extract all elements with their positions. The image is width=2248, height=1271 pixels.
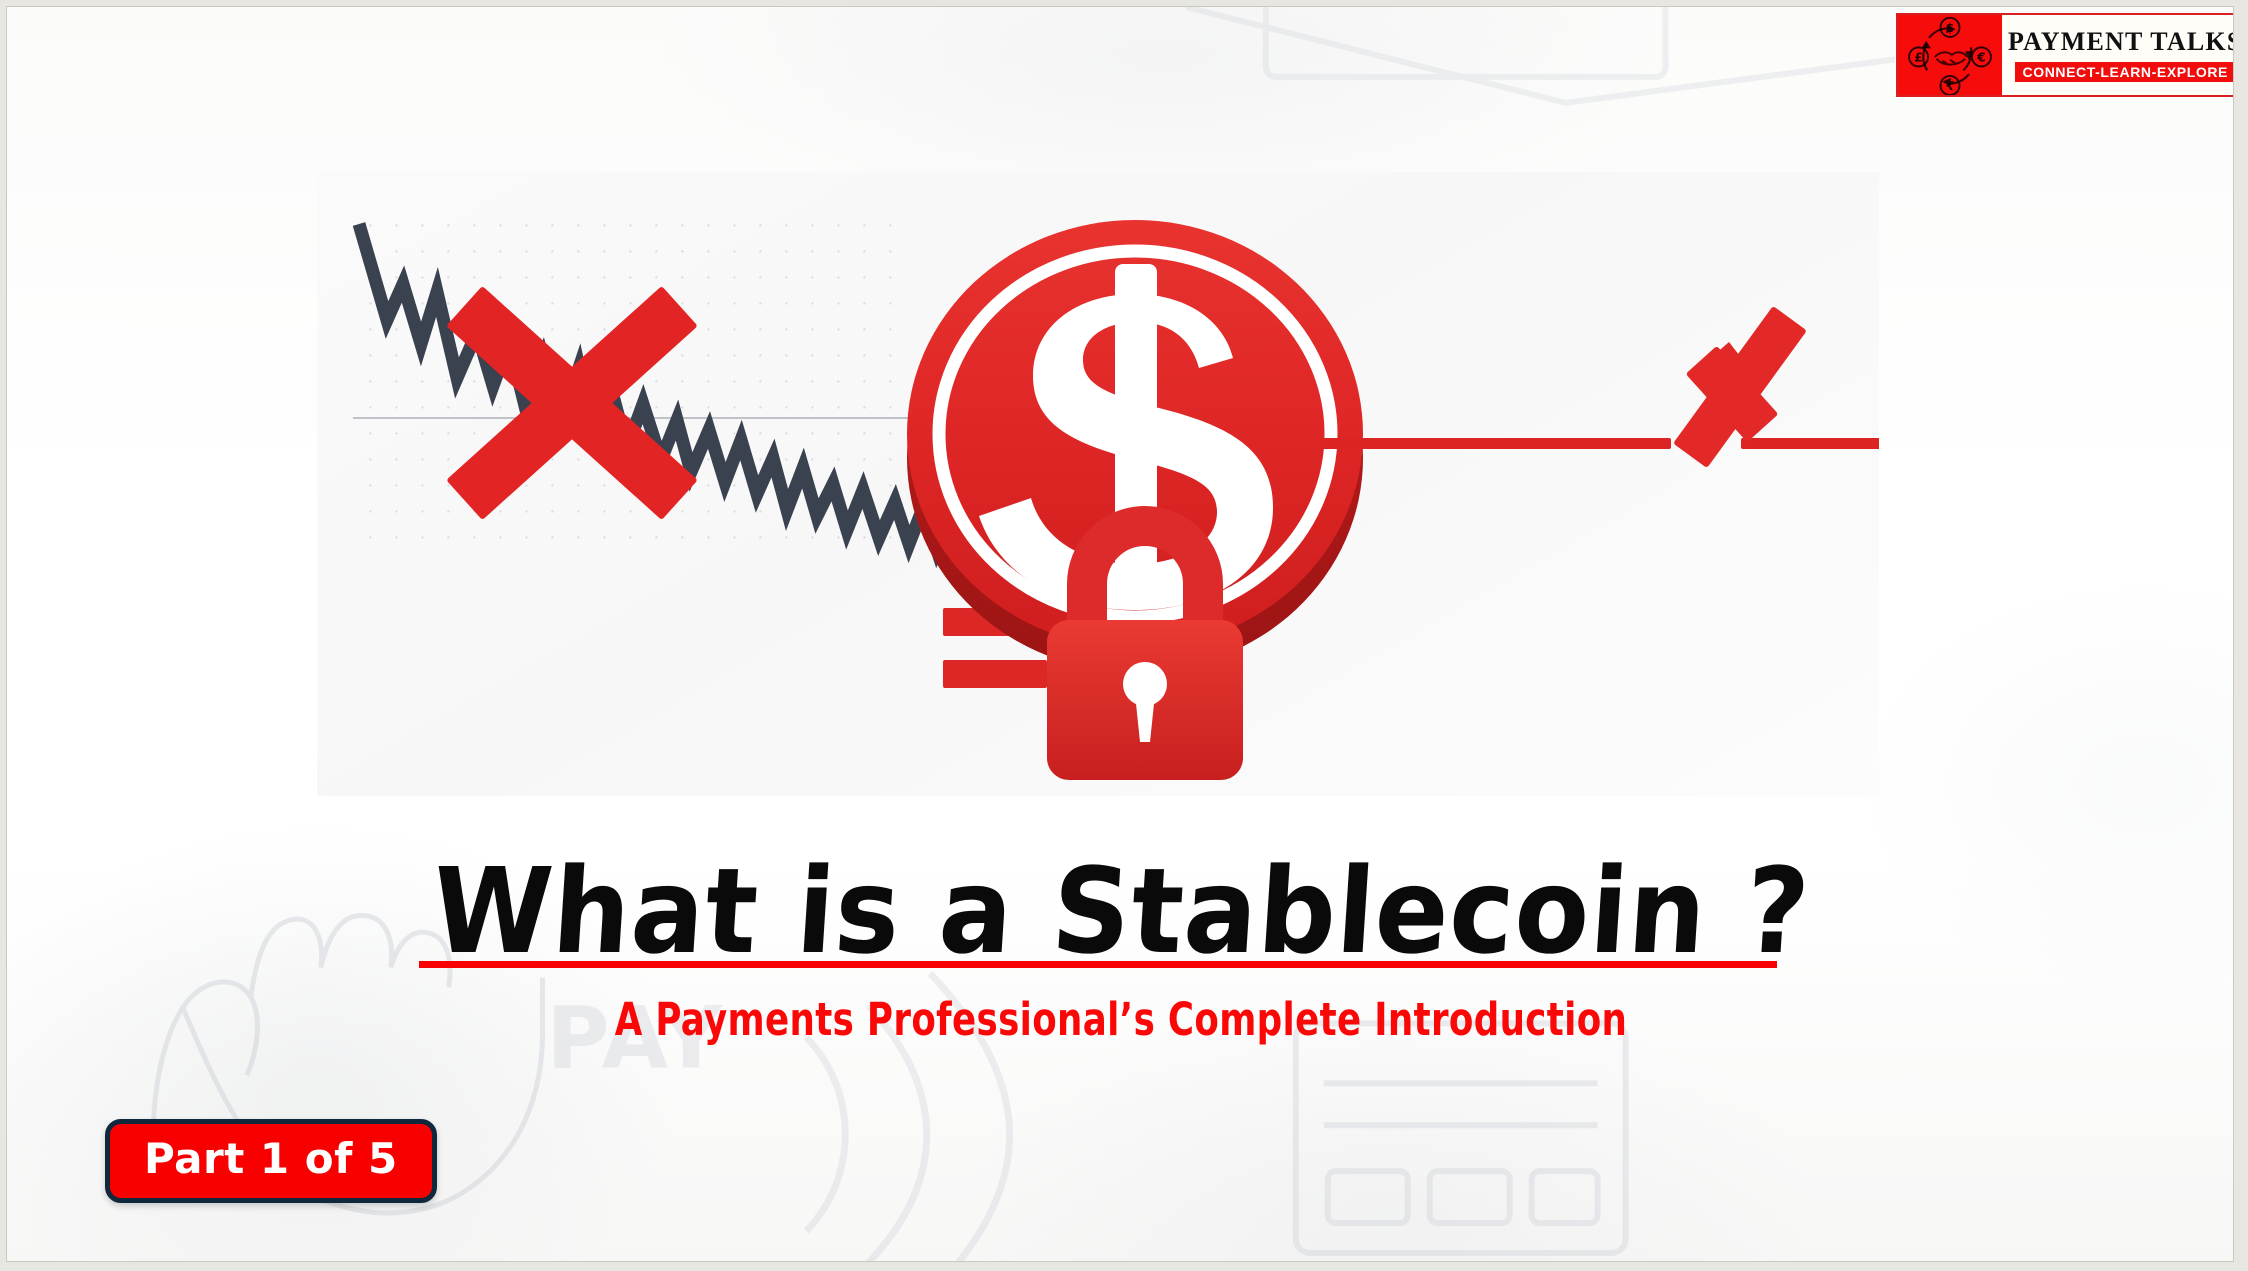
hero-illustration-panel [317,172,1879,796]
logo-title: PAYMENT TALKS [2008,29,2234,55]
slide-canvas: PAY [6,6,2234,1262]
logo-tagline: CONNECT-LEARN-EXPLORE [2015,62,2235,82]
status-badge: Part 1 of 5 [105,1119,437,1203]
svg-text:€: € [1976,51,1986,65]
svg-text:$: $ [1946,21,1955,35]
page-subtitle: A Payments Professional’s Complete Intro… [141,993,2102,1046]
page-title: What is a Stablecoin ? [92,852,2149,970]
logo-text-block: PAYMENT TALKS CONNECT-LEARN-EXPLORE [2002,15,2234,95]
flat-line-icon [1321,438,1879,449]
svg-text:£: £ [1914,51,1923,65]
brand-logo: $€ ₹£ PAYMENT TALKS CONNECT-LEARN-EXPLOR… [1896,13,2234,97]
dollar-coin-icon [907,220,1363,672]
title-underline [419,961,1777,968]
logo-mark-icon: $€ ₹£ [1898,15,2002,95]
svg-text:₹: ₹ [1946,79,1955,93]
